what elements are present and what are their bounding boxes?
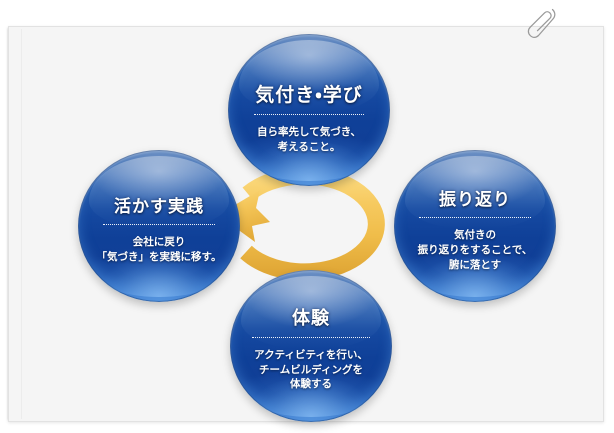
node-body: 自ら率先して気づき、 考えること。 <box>257 125 361 155</box>
node-body: アクティビティを行い、 チームビルディングを 体験する <box>254 348 368 393</box>
node-awareness-learning[interactable]: 気付き・学び 自ら率先して気づき、 考えること。 <box>228 34 390 186</box>
node-title: 気付き・学び <box>255 80 362 107</box>
node-practice[interactable]: 活かす実践 会社に戻り 「気づき」を実践に移す。 <box>78 150 240 302</box>
node-divider <box>252 337 370 339</box>
node-body: 気付きの 振り返りをすることで、 腑に落とす <box>418 228 533 273</box>
node-content: 活かす実践 会社に戻り 「気づき」を実践に移す。 <box>78 150 240 302</box>
node-divider <box>103 224 215 226</box>
node-content: 気付き・学び 自ら率先して気づき、 考えること。 <box>228 34 390 186</box>
node-divider <box>419 217 531 219</box>
node-title: 活かす実践 <box>114 192 204 217</box>
node-divider <box>254 114 364 116</box>
node-content: 振り返り 気付きの 振り返りをすることで、 腑に落とす <box>394 150 556 302</box>
node-experience[interactable]: 体験 アクティビティを行い、 チームビルディングを 体験する <box>230 270 392 422</box>
node-reflection[interactable]: 振り返り 気付きの 振り返りをすることで、 腑に落とす <box>394 150 556 302</box>
node-title: 体験 <box>292 304 330 330</box>
screenshot-stage: 気付き・学び 自ら率先して気づき、 考えること。 振り返り 気付きの 振り返りを… <box>0 0 614 433</box>
node-content: 体験 アクティビティを行い、 チームビルディングを 体験する <box>230 270 392 422</box>
paperclip-icon <box>524 2 564 52</box>
node-body: 会社に戻り 「気づき」を実践に移す。 <box>97 235 222 265</box>
learning-cycle-diagram: 気付き・学び 自ら率先して気づき、 考えること。 振り返り 気付きの 振り返りを… <box>0 0 614 433</box>
node-title: 振り返り <box>439 185 511 210</box>
